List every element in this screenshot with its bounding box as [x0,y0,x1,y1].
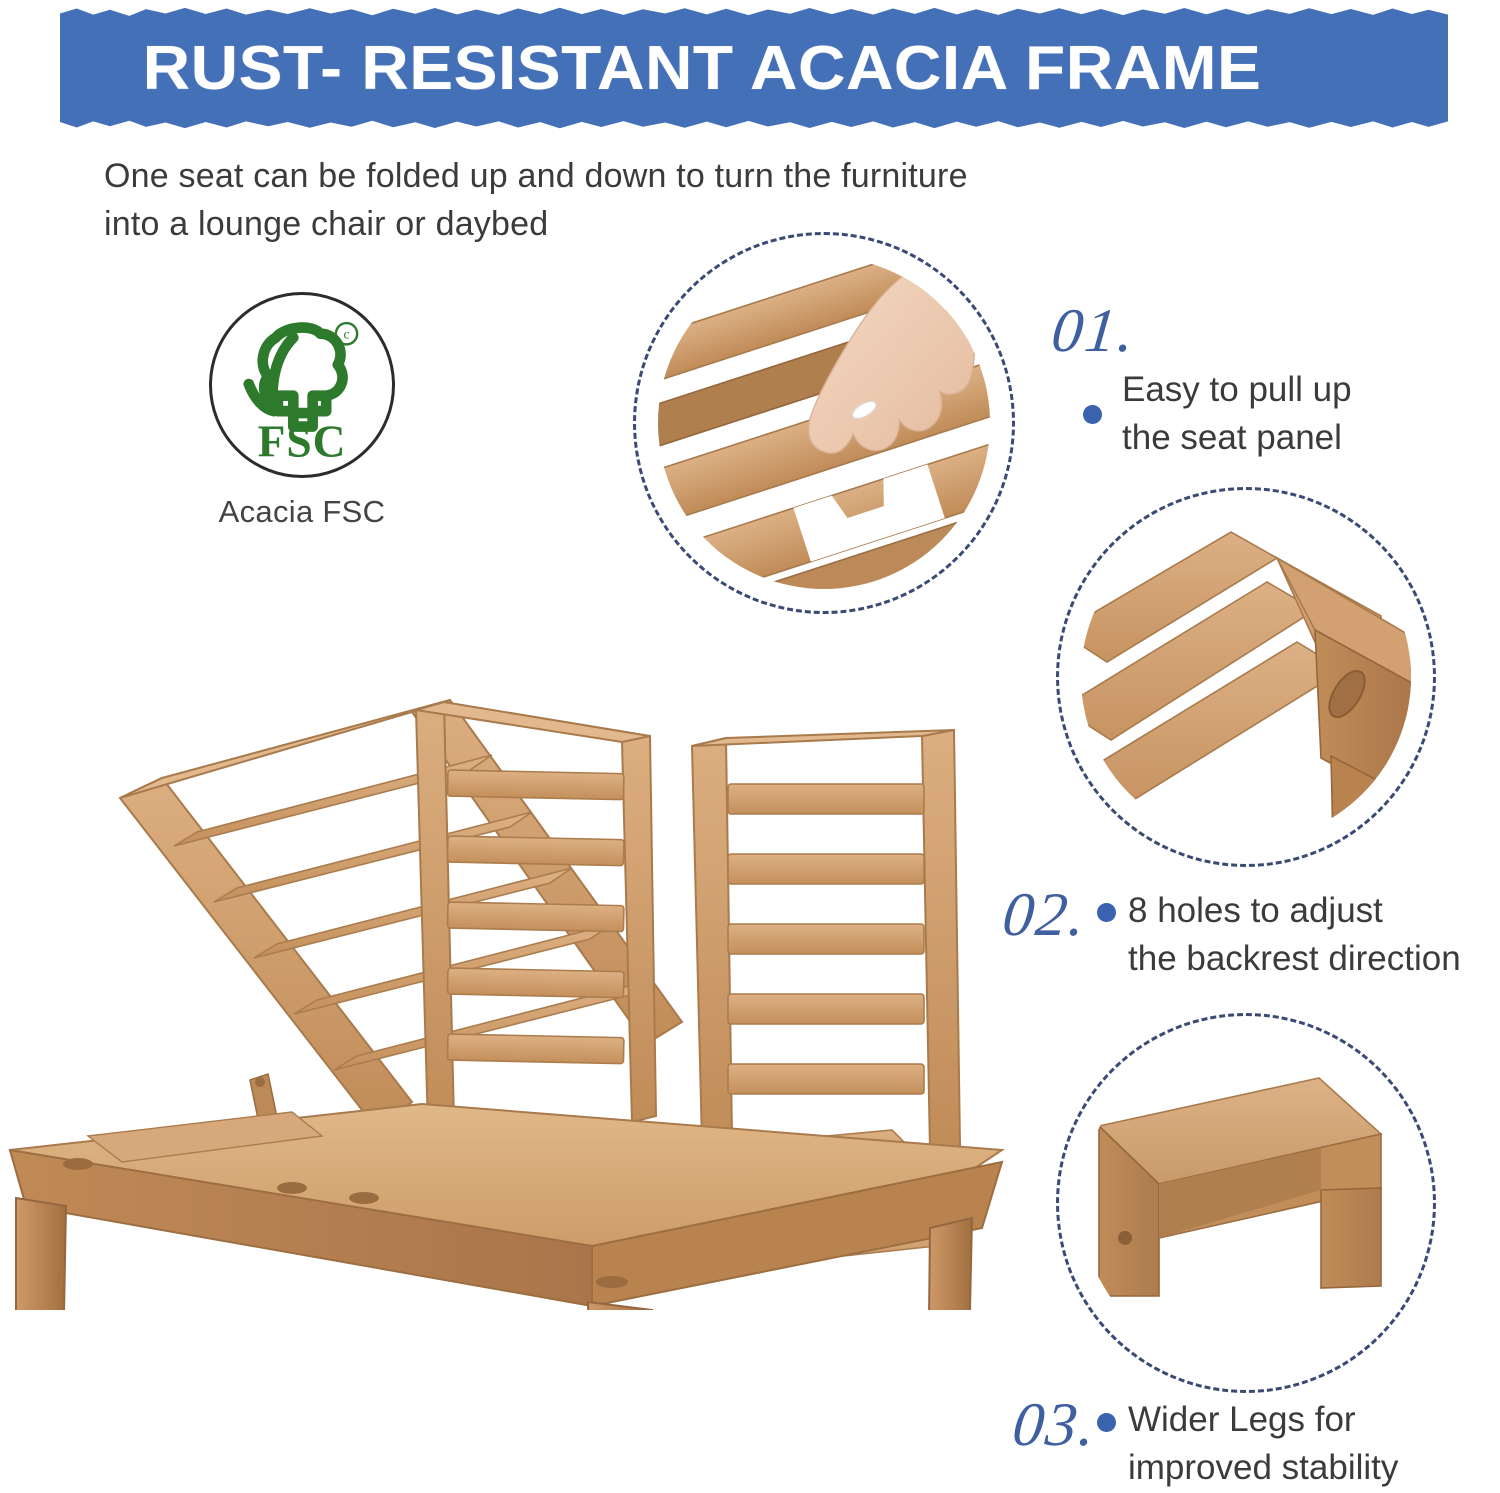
title-banner: RUST- RESISTANT ACACIA FRAME [60,6,1448,130]
page-title: RUST- RESISTANT ACACIA FRAME [60,6,1500,130]
inset-photo-3 [1081,1038,1411,1368]
fsc-certification-badge: c FSC Acacia FSC [196,292,408,530]
inset-backrest-adjust-hole [1056,487,1436,867]
inset-photo-1 [658,257,990,589]
callout-03-line-1: Wider Legs for [1128,1396,1398,1444]
svg-text:FSC: FSC [258,416,347,467]
subtitle-line-2: into a lounge chair or daybed [104,200,1104,248]
callout-02-number: 02. [999,880,1090,951]
callout-03-line-2: improved stability [1128,1444,1398,1492]
callout-02-line-2: the backrest direction [1128,935,1461,983]
callout-01-line-1: Easy to pull up [1122,366,1352,414]
callout-03-number: 03. [1009,1390,1100,1461]
callout-03-text: Wider Legs for improved stability [1128,1396,1398,1493]
callout-01-bullet-icon [1083,405,1102,424]
inset-hand-lifting-seat-panel [633,232,1015,614]
fsc-label: Acacia FSC [196,494,408,530]
subtitle: One seat can be folded up and down to tu… [104,152,1104,249]
subtitle-line-1: One seat can be folded up and down to tu… [104,152,1104,200]
product-image [0,650,1012,1310]
callout-01-text: Easy to pull up the seat panel [1122,366,1352,463]
inset-wide-leg-joint [1056,1013,1436,1393]
svg-text:c: c [344,327,350,342]
callout-02-line-1: 8 holes to adjust [1128,887,1461,935]
callout-01-number: 01. [1048,296,1139,367]
inset-photo-2 [1081,512,1411,842]
callout-02-text: 8 holes to adjust the backrest direction [1128,887,1461,984]
fsc-logo-icon: c FSC [209,292,395,478]
callout-03-bullet-icon [1097,1413,1116,1432]
callout-01-line-2: the seat panel [1122,414,1352,462]
callout-02-bullet-icon [1097,903,1116,922]
